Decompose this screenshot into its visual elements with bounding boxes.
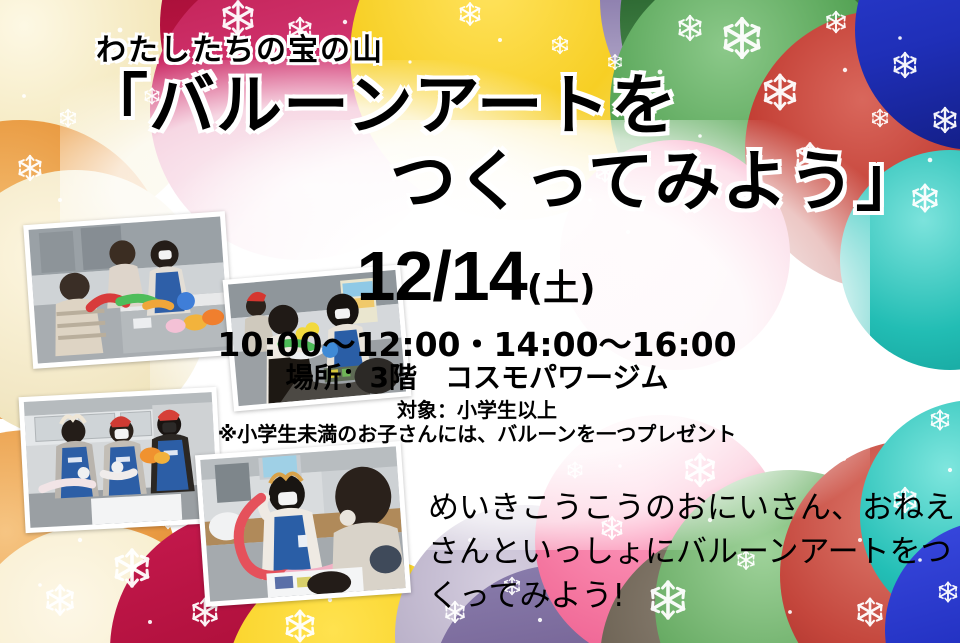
page-title-line2: つくってみよう」 — [390, 148, 923, 217]
photo-student-red-balloon — [195, 441, 411, 607]
event-date: 12/14(土) — [0, 236, 952, 316]
event-note: ※小学生未満のお子さんには、バルーンを一つプレゼント — [0, 418, 954, 447]
body-copy-line-1: めいきこうこうのおにいさん、おねえ — [428, 486, 940, 530]
poster-canvas: わたしたちの宝の山 「バルーンアートを つくってみよう」 12/14(土) 10… — [0, 0, 960, 643]
event-day-of-week: (土) — [527, 268, 596, 309]
body-copy-line-2: さんといっしょにバルーンアートをつ — [428, 530, 940, 574]
event-date-value: 12/14 — [356, 237, 526, 315]
page-kicker: わたしたちの宝の山 — [96, 36, 384, 66]
body-copy-line-3: くってみよう! — [428, 574, 940, 618]
event-body-copy: めいきこうこうのおにいさん、おねえ さんといっしょにバルーンアートをつ くってみ… — [428, 486, 940, 618]
event-venue: 場所：3階 コスモパワージム — [0, 356, 954, 396]
page-title-line1: 「バルーンアートを — [82, 72, 678, 141]
